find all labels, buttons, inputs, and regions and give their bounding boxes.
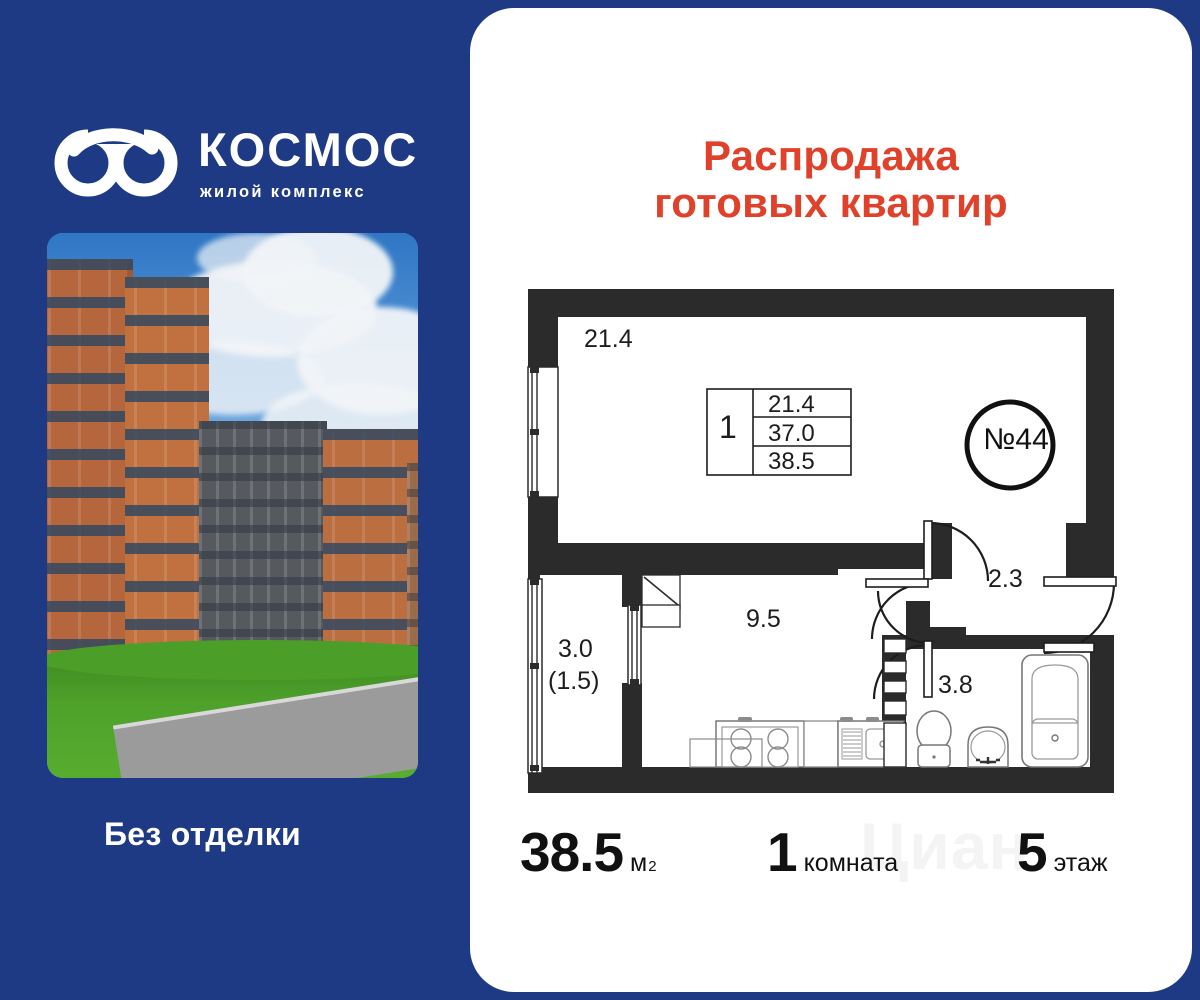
brand-logo: КОСМОС жилой комплекс: [52, 118, 452, 214]
road: [113, 676, 418, 778]
stat-floor: 5 этаж: [1017, 820, 1108, 884]
toilet-icon: [917, 711, 951, 767]
stat-area-unit: м: [630, 849, 647, 878]
stat-rooms-value: 1: [767, 820, 797, 884]
stat-floor-value: 5: [1017, 820, 1047, 884]
headline-line-2: готовых квартир: [470, 179, 1192, 226]
stove-icon: [690, 717, 804, 767]
building-photo: [47, 233, 418, 778]
infinity-logo-icon: [52, 126, 180, 200]
stat-area-unit-sup: 2: [648, 858, 656, 875]
washbasin-icon: [968, 727, 1008, 767]
info-table-value-1: 21.4: [768, 391, 815, 419]
stat-area: 38.5 м 2: [520, 820, 657, 884]
stat-rooms: 1 комната: [767, 820, 898, 884]
room-label-balcony: 3.0: [558, 635, 593, 664]
brand-text: КОСМОС жилой комплекс: [198, 126, 458, 202]
floor-plan-listing-page: КОСМОС жилой комплекс: [0, 0, 1200, 1000]
info-table-value-2: 37.0: [768, 420, 815, 448]
brand-tagline: жилой комплекс: [200, 183, 458, 202]
stat-rooms-unit: комната: [804, 849, 899, 878]
stat-floor-unit: этаж: [1054, 849, 1108, 878]
apartment-number-label: №44: [976, 423, 1056, 457]
info-table-rooms: 1: [719, 409, 737, 446]
apartment-stats: 38.5 м 2 1 комната 5 этаж: [470, 820, 1192, 890]
floor-plan: 21.4 3.0 (1.5) 9.5 2.3 3.8 1 21.4 37.0 3…: [510, 283, 1190, 798]
room-label-bathroom: 3.8: [938, 671, 973, 700]
lawn: [47, 656, 418, 778]
kitchen-counter: [804, 721, 838, 767]
room-label-hall: 2.3: [988, 565, 1023, 594]
finish-type-caption: Без отделки: [104, 816, 301, 853]
brand-panel: КОСМОС жилой комплекс: [0, 0, 480, 1000]
info-table-value-3: 38.5: [768, 448, 815, 476]
room-label-balcony-living: (1.5): [548, 667, 599, 696]
cloud: [197, 233, 317, 283]
room-label-kitchen: 9.5: [746, 605, 781, 634]
promo-headline: Распродажа готовых квартир: [470, 132, 1192, 226]
room-label-living-room: 21.4: [584, 325, 633, 354]
stat-area-value: 38.5: [520, 820, 623, 884]
content-card: Распродажа готовых квартир: [470, 8, 1192, 992]
headline-line-1: Распродажа: [703, 132, 959, 179]
brand-name: КОСМОС: [198, 126, 458, 173]
bathtub-icon: [1022, 655, 1088, 767]
